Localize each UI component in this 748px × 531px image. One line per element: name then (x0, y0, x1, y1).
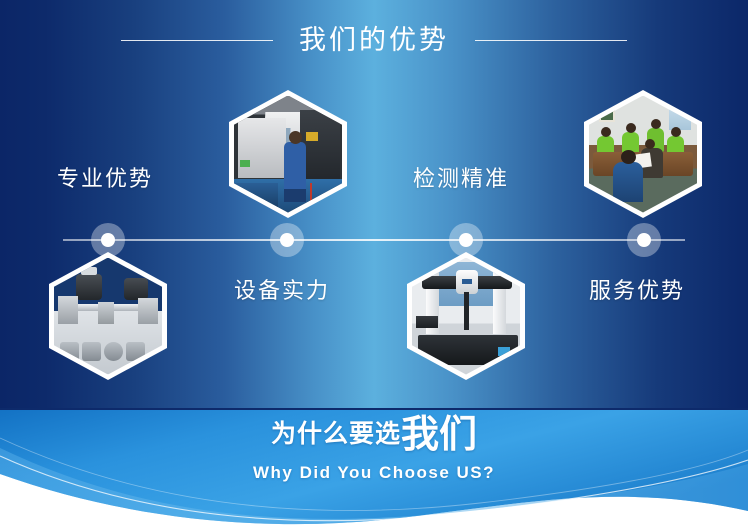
hexagon-photo-measuring-machine[interactable] (407, 252, 525, 380)
photo-detail (82, 342, 101, 361)
photo-detail (240, 160, 250, 167)
hexagon-photo-clip (589, 96, 697, 213)
feature-label-equipment-strength: 设备实力 (234, 280, 330, 302)
banner-text-block: 为什么要选我们 Why Did You Choose US? (0, 416, 748, 483)
hexagon-photo-team-meeting[interactable] (584, 90, 702, 218)
photo-detail (418, 335, 518, 365)
photo-detail (234, 183, 278, 213)
banner-headline-cn: 为什么要选我们 (0, 416, 748, 454)
photo-detail (613, 162, 643, 202)
timeline-node-dot-icon (637, 233, 651, 247)
photo-detail (138, 298, 158, 324)
photo-detail (456, 270, 478, 294)
timeline-node-dot-icon (459, 233, 473, 247)
photo-detail (58, 296, 78, 324)
timeline-node-4[interactable] (627, 223, 661, 257)
photo-detail (126, 342, 145, 361)
timeline-node-dot-icon (280, 233, 294, 247)
photo-detail (669, 100, 691, 130)
photo-detail (98, 302, 114, 324)
photo-detail (238, 118, 286, 178)
gradient-panel: 我们的优势 (0, 0, 748, 410)
photo-measuring-machine-image (412, 258, 520, 375)
photo-detail (104, 342, 123, 361)
photo-cnc-workshop-image (234, 96, 342, 213)
feature-label-service-advantage: 服务优势 (589, 280, 685, 302)
banner-subtitle-en: Why Did You Choose US? (0, 463, 748, 483)
photo-detail (599, 102, 615, 122)
photo-detail (76, 274, 102, 300)
banner-headline-prefix: 为什么要选 (271, 420, 401, 448)
photo-detail (310, 183, 312, 209)
photo-detail (464, 292, 469, 330)
hexagon-photo-clip (54, 258, 162, 375)
photo-detail (60, 342, 79, 361)
photo-detail (124, 278, 148, 300)
advantages-banner-page: 我们的优势 (0, 0, 748, 531)
photo-tooling-fixtures-image (54, 258, 162, 375)
hexagon-photo-clip (412, 258, 520, 375)
bottom-wave-banner: 为什么要选我们 Why Did You Choose US? (0, 408, 748, 531)
photo-detail (416, 316, 438, 328)
timeline-connector-line (63, 239, 685, 241)
feature-label-professional-advantage: 专业优势 (57, 168, 153, 190)
feature-label-accurate-inspection: 检测精准 (413, 168, 509, 190)
page-title-row: 我们的优势 (0, 16, 748, 64)
banner-headline-emphasis: 我们 (401, 414, 477, 456)
timeline-node-dot-icon (101, 233, 115, 247)
hexagon-photo-tooling-fixtures[interactable] (49, 252, 167, 380)
photo-team-meeting-image (589, 96, 697, 213)
title-rule-left-icon (121, 40, 273, 41)
photo-detail (300, 110, 340, 184)
hexagon-photo-clip (234, 96, 342, 213)
timeline-node-1[interactable] (91, 223, 125, 257)
hexagon-photo-cnc-workshop[interactable] (229, 90, 347, 218)
page-title: 我们的优势 (299, 27, 449, 54)
photo-detail (284, 142, 306, 202)
title-rule-right-icon (475, 40, 627, 41)
timeline-node-2[interactable] (270, 223, 304, 257)
timeline-node-3[interactable] (449, 223, 483, 257)
